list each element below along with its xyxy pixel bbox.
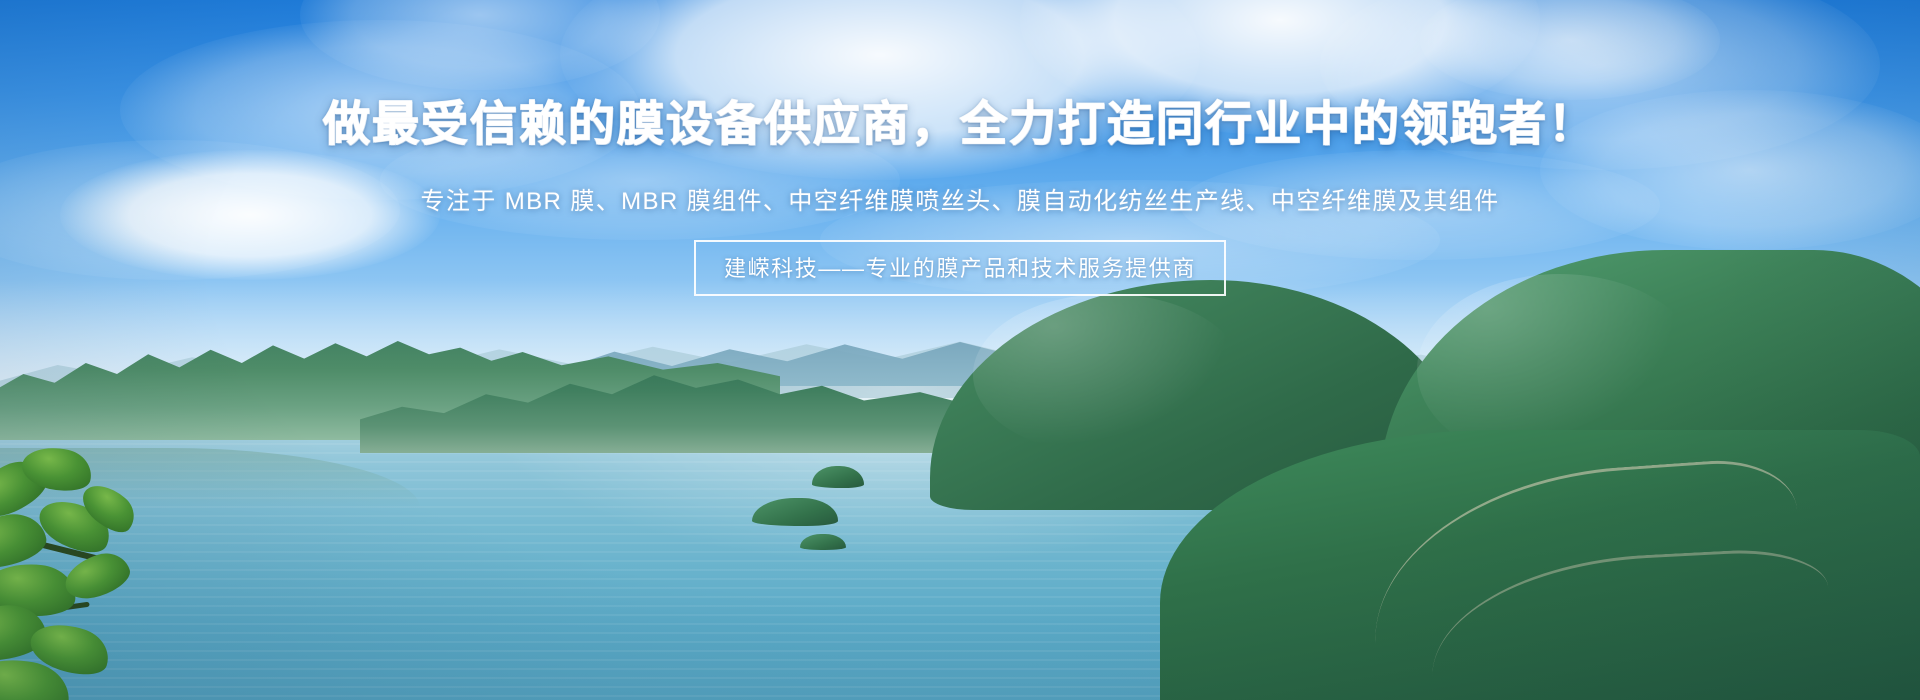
cloud-shape (1320, 0, 1880, 170)
cloud-shape (380, 120, 900, 240)
cloud-shape (1420, 0, 1720, 100)
banner-tagline: 建嵘科技——专业的膜产品和技术服务提供商 (724, 251, 1196, 283)
banner-tagline-box[interactable]: 建嵘科技——专业的膜产品和技术服务提供商 (694, 240, 1226, 296)
cloud-shape (60, 150, 440, 280)
islet (800, 534, 846, 550)
cloud-shape (1180, 150, 1660, 260)
cloud-shape (300, 0, 660, 90)
hero-banner: 做最受信赖的膜设备供应商，全力打造同行业中的领跑者！ 专注于 MBR 膜、MBR… (0, 0, 1920, 700)
cloud-shape (1020, 0, 1540, 135)
cloud-shape (1540, 90, 1920, 250)
cloud-shape (120, 20, 640, 200)
cloud-shape (0, 140, 400, 280)
cloud-shape (560, 0, 1200, 180)
